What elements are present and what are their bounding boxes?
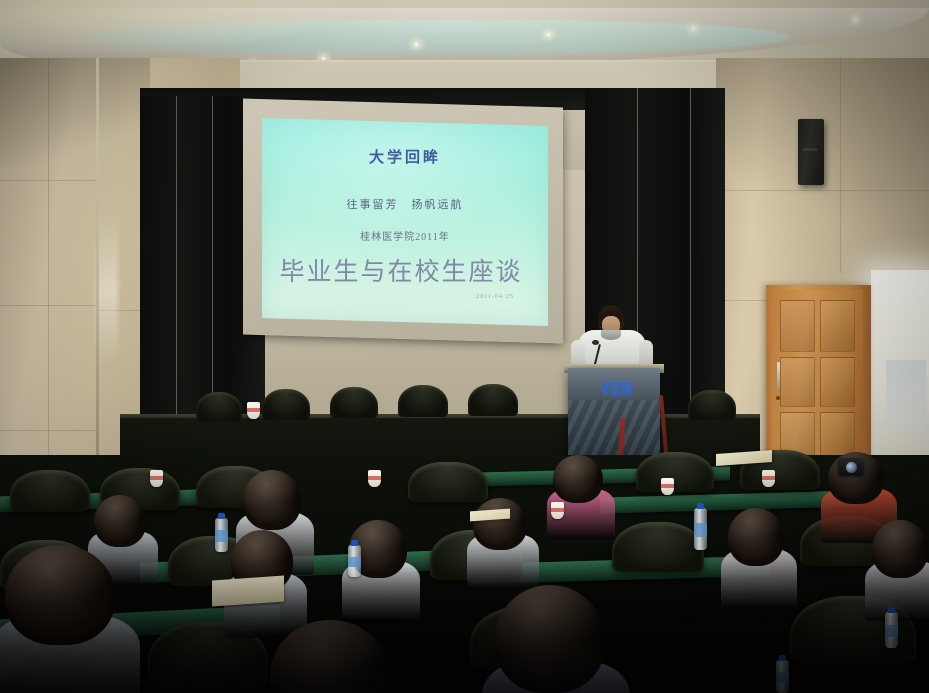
cup-band (150, 476, 163, 480)
ceiling-light (413, 42, 420, 47)
slide-date: 2011-04-25 (262, 294, 548, 300)
tile-seam (716, 190, 929, 191)
bottle-label (694, 523, 707, 537)
curtain-seam (690, 88, 691, 433)
curtain-seam (176, 96, 177, 426)
bottle-label (215, 530, 228, 542)
cup-band (247, 408, 260, 412)
cup-band (661, 484, 674, 488)
door-panel (780, 357, 815, 407)
slide-title: 毕业生与在校生座谈 (258, 252, 544, 288)
curtain-seam (212, 96, 213, 426)
door-panel (820, 357, 855, 407)
chair[interactable] (10, 470, 90, 512)
slide-line-1: 大学回眸 (262, 146, 548, 167)
microphone-icon (592, 340, 599, 345)
bottle-cap (351, 540, 358, 546)
student-ponytail-hair-sheen (243, 470, 301, 530)
cup-band (551, 508, 564, 512)
window-pane (886, 360, 926, 430)
stage-seat[interactable] (196, 392, 242, 422)
presenter-collar (601, 330, 621, 340)
stage-seat[interactable] (468, 384, 518, 416)
door-lock-icon (776, 396, 780, 400)
ceiling-light (690, 26, 697, 31)
left-wall-corner-edge (96, 58, 99, 478)
camera-lens-icon (846, 462, 857, 473)
student-back-row-left-hair-sheen (94, 495, 146, 547)
student-pink-top-hair-sheen (553, 455, 603, 503)
left-wall-highlight (96, 215, 118, 365)
student-floral-top-hair-sheen (728, 508, 784, 566)
chair[interactable] (636, 452, 714, 492)
door-panel (820, 300, 855, 352)
slide-line-2: 往事留芳 扬帆远航 (262, 196, 548, 212)
auditorium-photo: 大学回眸 往事留芳 扬帆远航 桂林医学院2011年 毕业生与在校生座谈 2011… (0, 0, 929, 693)
door-panel (780, 300, 815, 352)
cup-band (762, 476, 775, 480)
door-handle[interactable] (777, 362, 780, 390)
bottle-cap (218, 513, 225, 519)
tile-seam (840, 58, 841, 273)
slide-line-3: 桂林医学院2011年 (262, 228, 548, 243)
foreground-shadow (0, 560, 929, 693)
projector-glow (262, 118, 548, 246)
ceiling-glow (0, 0, 360, 60)
bottle-cap (697, 503, 704, 509)
left-wall-shadow (0, 58, 150, 168)
stage-seat[interactable] (398, 385, 448, 417)
chair[interactable] (408, 462, 488, 502)
stage-seat[interactable] (330, 387, 378, 418)
ceiling-light (852, 17, 859, 22)
student-bun-hair-hair-sheen (473, 498, 527, 550)
cup-band (368, 476, 381, 480)
stage-seat[interactable] (688, 390, 736, 420)
ceiling-light (545, 32, 552, 37)
wall-speaker-icon (798, 119, 824, 185)
stage-seat[interactable] (262, 389, 310, 420)
wall-speaker-slot (803, 148, 817, 151)
podium-logo: YZS (588, 378, 644, 400)
